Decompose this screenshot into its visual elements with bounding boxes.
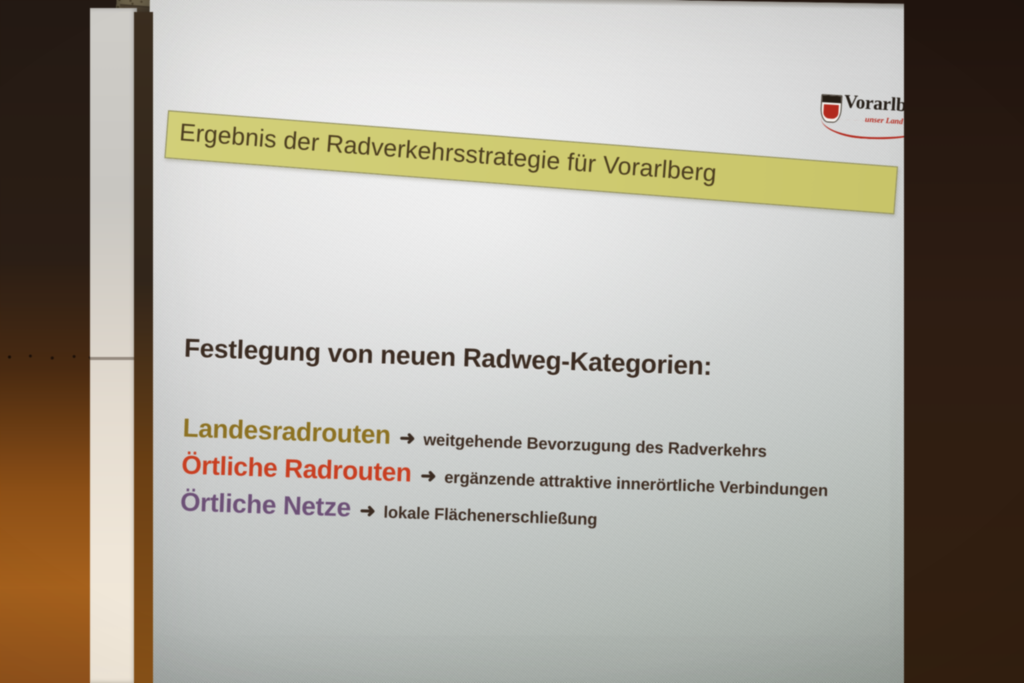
right-wall bbox=[904, 0, 1024, 683]
category-description: ergänzende attraktive innerörtliche Verb… bbox=[444, 469, 828, 501]
screen-edge-pillar bbox=[90, 8, 137, 683]
presentation-slide: Vorarlberg unser Land Ergebnis der Radve… bbox=[139, 0, 962, 683]
category-description: weitgehende Bevorzugung des Radverkehrs bbox=[423, 431, 767, 462]
category-name: Örtliche Radrouten bbox=[181, 450, 412, 489]
category-name: Örtliche Netze bbox=[180, 487, 352, 524]
arrow-right-icon: ➜ bbox=[359, 502, 376, 522]
projection-screen: Vorarlberg unser Land Ergebnis der Radve… bbox=[139, 0, 962, 683]
arrow-right-icon: ➜ bbox=[420, 467, 437, 487]
category-list: Landesradrouten ➜ weitgehende Bevorzugun… bbox=[180, 413, 830, 547]
coat-of-arms-top bbox=[822, 95, 841, 103]
slide-title: Ergebnis der Radverkehrsstrategie für Vo… bbox=[178, 119, 717, 188]
slide-headline: Festlegung von neuen Radweg-Kategorien: bbox=[184, 333, 713, 382]
category-description: lokale Flächenerschließung bbox=[383, 504, 597, 530]
photo-scene: Vorarlberg unser Land Ergebnis der Radve… bbox=[0, 0, 1024, 683]
coat-of-arms-band bbox=[823, 104, 839, 119]
screen-frame-shadow bbox=[134, 12, 153, 683]
slide-title-banner: Ergebnis der Radverkehrsstrategie für Vo… bbox=[164, 110, 898, 214]
wall-speckles bbox=[0, 352, 95, 362]
arrow-right-icon: ➜ bbox=[399, 429, 416, 449]
category-name: Landesradrouten bbox=[182, 413, 391, 451]
